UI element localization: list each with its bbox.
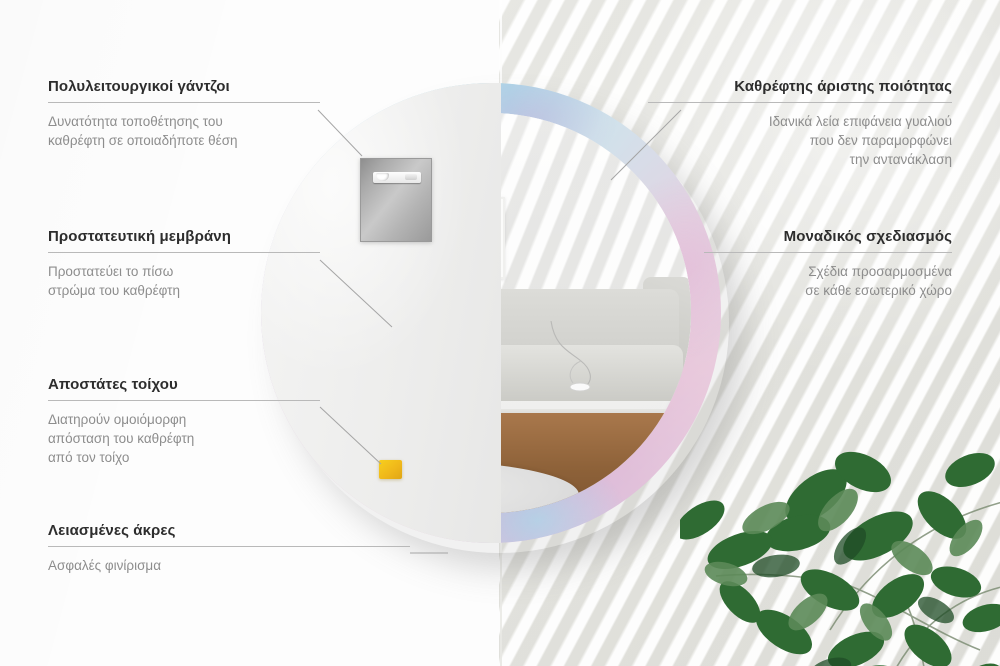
- callout-description: Σχέδια προσαρμοσμένα σε κάθε εσωτερικό χ…: [704, 262, 952, 300]
- callout-rule: [648, 102, 952, 103]
- callout-rule: [48, 102, 320, 103]
- callout-title: Καθρέφτης άριστης ποιότητας: [648, 78, 952, 95]
- callout-unique-design: Μοναδικός σχεδιασμός Σχέδια προσαρμοσμέν…: [704, 228, 952, 300]
- connector-membrane: [320, 260, 392, 327]
- callout-rule: [48, 400, 320, 401]
- decorative-foliage: [680, 350, 1000, 666]
- callout-title: Λειασμένες άκρες: [48, 522, 410, 539]
- callout-description: Ιδανικά λεία επιφάνεια γυαλιού που δεν π…: [648, 112, 952, 169]
- callout-rule: [48, 546, 410, 547]
- connector-spacers: [320, 407, 381, 464]
- infographic-canvas: Πολυλειτουργικοί γάντζοι Δυνατότητα τοπο…: [0, 0, 1000, 666]
- callout-description: Διατηρούν ομοιόμορφη απόσταση του καθρέφ…: [48, 410, 320, 467]
- callout-description: Προστατεύει το πίσω στρώμα του καθρέφτη: [48, 262, 320, 300]
- callout-polished-edges: Λειασμένες άκρες Ασφαλές φινίρισμα: [48, 522, 410, 575]
- callout-title: Αποστάτες τοίχου: [48, 376, 320, 393]
- callout-title: Πολυλειτουργικοί γάντζοι: [48, 78, 320, 95]
- callout-title: Μοναδικός σχεδιασμός: [704, 228, 952, 245]
- callout-wall-spacers: Αποστάτες τοίχου Διατηρούν ομοιόμορφη απ…: [48, 376, 320, 467]
- callout-top-quality-mirror: Καθρέφτης άριστης ποιότητας Ιδανικά λεία…: [648, 78, 952, 169]
- callout-description: Ασφαλές φινίρισμα: [48, 556, 410, 575]
- callout-rule: [704, 252, 952, 253]
- callout-protective-membrane: Προστατευτική μεμβράνη Προστατεύει το πί…: [48, 228, 320, 300]
- connector-hooks: [318, 110, 362, 156]
- callout-multifunctional-hooks: Πολυλειτουργικοί γάντζοι Δυνατότητα τοπο…: [48, 78, 320, 150]
- callout-rule: [48, 252, 320, 253]
- callout-description: Δυνατότητα τοποθέτησης του καθρέφτη σε ο…: [48, 112, 320, 150]
- callout-title: Προστατευτική μεμβράνη: [48, 228, 320, 245]
